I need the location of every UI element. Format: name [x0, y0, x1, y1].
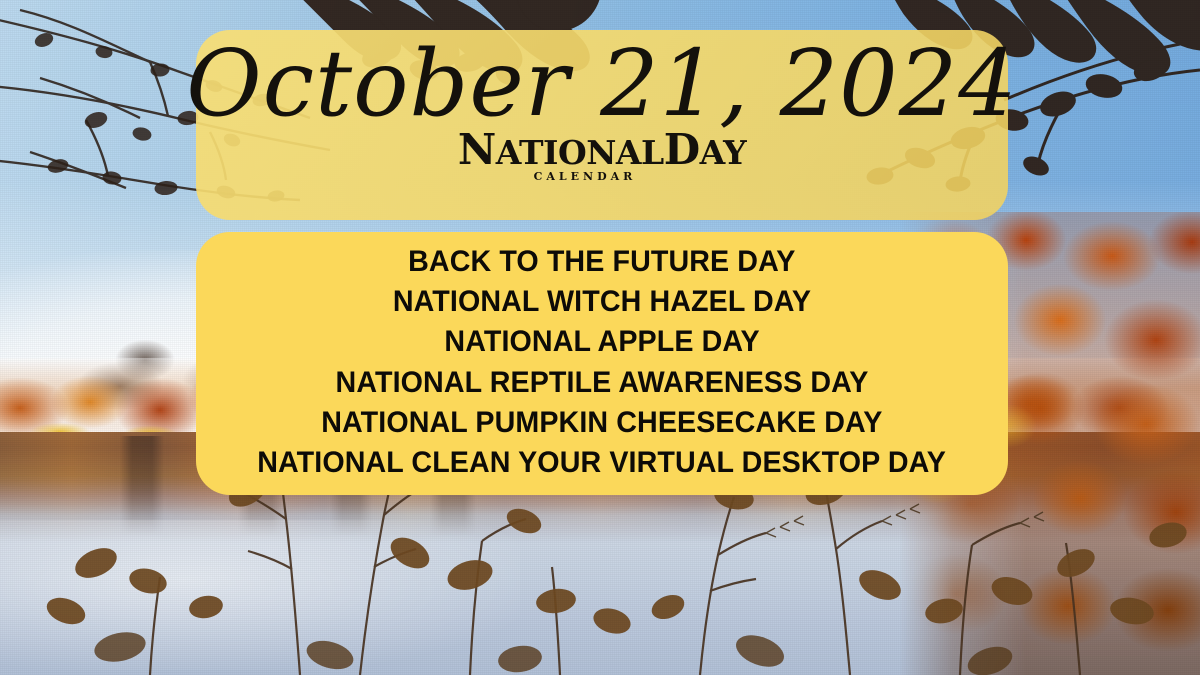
logo-letter-n: N: [458, 131, 496, 169]
water-sky-sheen: [0, 520, 520, 670]
list-item: NATIONAL REPTILE AWARENESS DAY: [336, 363, 869, 403]
logo-word-day: AY: [700, 136, 747, 169]
logo-word-national: ATIONAL: [496, 136, 664, 169]
list-item: NATIONAL PUMPKIN CHEESECAKE DAY: [321, 403, 882, 443]
list-item: NATIONAL CLEAN YOUR VIRTUAL DESKTOP DAY: [258, 443, 947, 483]
list-item: BACK TO THE FUTURE DAY: [408, 242, 795, 282]
page-title-date: October 21, 2024: [186, 30, 1018, 133]
list-item: NATIONAL WITCH HAZEL DAY: [393, 282, 811, 322]
logo-wordmark: NATIONALDAY: [458, 131, 746, 169]
header-card: October 21, 2024 NATIONALDAY CALENDAR: [196, 30, 1008, 220]
list-item: NATIONAL APPLE DAY: [444, 322, 759, 362]
national-day-calendar-logo: NATIONALDAY CALENDAR: [458, 131, 746, 183]
logo-letter-d: D: [664, 131, 700, 169]
observance-days-card: BACK TO THE FUTURE DAY NATIONAL WITCH HA…: [196, 232, 1008, 495]
logo-subtitle-calendar: CALENDAR: [534, 170, 637, 183]
national-day-calendar-graphic: October 21, 2024 NATIONALDAY CALENDAR BA…: [0, 0, 1200, 675]
